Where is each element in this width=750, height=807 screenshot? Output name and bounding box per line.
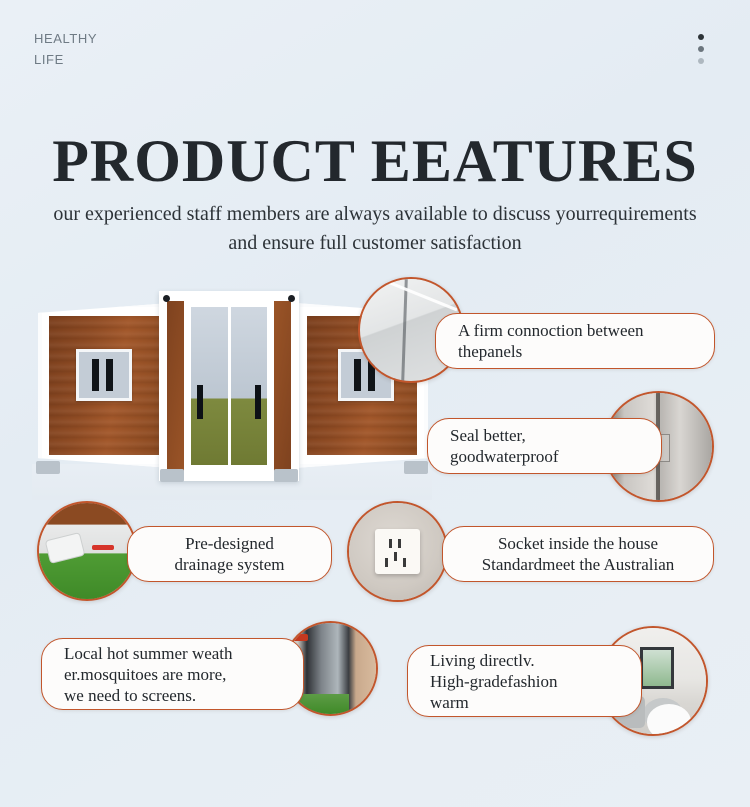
- interior-slit-right: [255, 385, 261, 419]
- center-edge-right: [274, 301, 291, 471]
- support-foot-far-right: [404, 461, 428, 474]
- feature-text-mosquito-screens: Local hot summer weath er.mosquitoes are…: [64, 643, 289, 706]
- feature-label-seal-waterproof[interactable]: Seal better, goodwaterproof: [427, 418, 662, 474]
- socket-face: [375, 529, 420, 574]
- window-left: [76, 349, 132, 401]
- brand-line-1: HEALTHY: [34, 28, 97, 49]
- feature-text-drainage-system: Pre-designed drainage system: [144, 533, 315, 575]
- feature-label-mosquito-screens[interactable]: Local hot summer weath er.mosquitoes are…: [41, 638, 304, 710]
- three-dots-icon[interactable]: [698, 34, 704, 64]
- feature-text-seal-waterproof: Seal better, goodwaterproof: [450, 425, 647, 467]
- drainage-pipe-photo: [39, 503, 135, 599]
- corner-bolt-tr: [288, 295, 295, 302]
- feature-label-drainage-system[interactable]: Pre-designed drainage system: [127, 526, 332, 582]
- feature-image-socket-standard: [347, 501, 448, 602]
- feature-text-living-fashion: Living directlv. High-gradefashion warm: [430, 650, 627, 713]
- feature-image-drainage-system: [37, 501, 137, 601]
- feature-text-panel-connection: A firm connoction between thepanels: [458, 320, 700, 362]
- support-foot-right: [274, 469, 298, 482]
- interior-slit-left: [197, 385, 203, 419]
- brand-line-2: LIFE: [34, 49, 97, 70]
- house-left-wing: [38, 303, 170, 468]
- feature-label-panel-connection[interactable]: A firm connoction between thepanels: [435, 313, 715, 369]
- dot-3: [698, 58, 704, 64]
- brand-logo: HEALTHY LIFE: [34, 28, 97, 70]
- feature-label-living-fashion[interactable]: Living directlv. High-gradefashion warm: [407, 645, 642, 717]
- infographic-page: HEALTHY LIFE PRODUCT EEATURES our experi…: [0, 0, 750, 807]
- round-table: [647, 704, 692, 736]
- page-subtitle: our experienced staff members are always…: [45, 200, 705, 258]
- house-center-module: [159, 291, 299, 481]
- corner-bolt-tl: [163, 295, 170, 302]
- page-title: PRODUCT EEATURES: [0, 126, 750, 196]
- sliding-glass-door: [188, 304, 270, 468]
- feature-text-socket-standard: Socket inside the house Standardmeet the…: [459, 533, 697, 575]
- dot-1: [698, 34, 704, 40]
- support-foot-far-left: [36, 461, 60, 474]
- feature-label-socket-standard[interactable]: Socket inside the house Standardmeet the…: [442, 526, 714, 582]
- dot-2: [698, 46, 704, 52]
- support-foot-left: [160, 469, 184, 482]
- center-edge-left: [167, 301, 184, 471]
- wall-socket-photo: [349, 503, 446, 600]
